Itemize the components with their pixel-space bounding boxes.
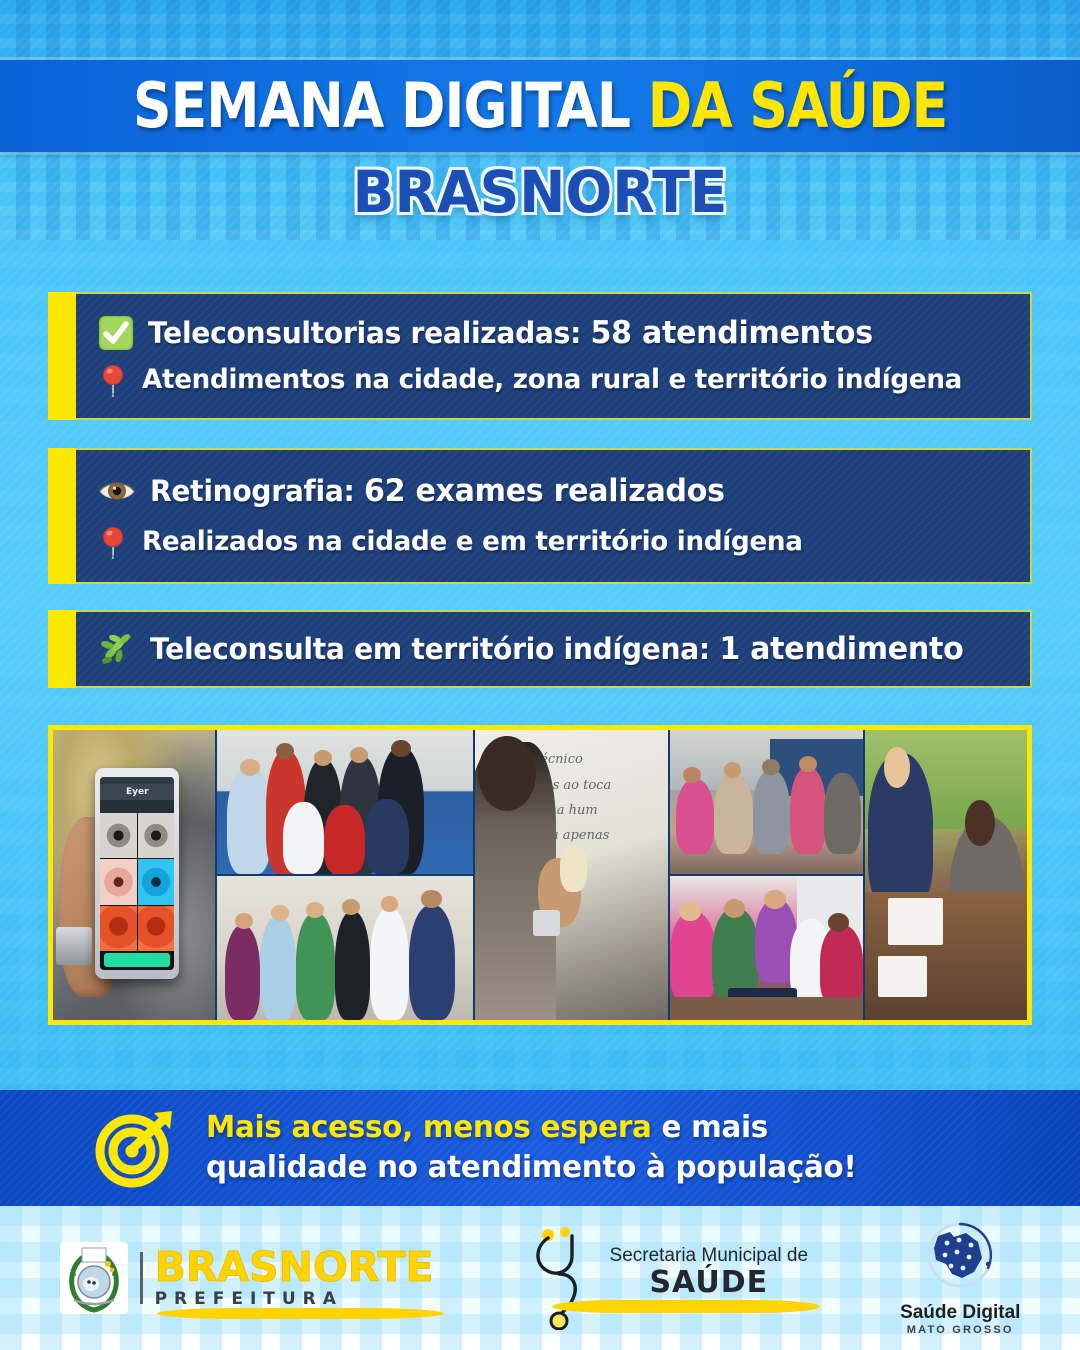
- card-body: Retinografia: 62 exames realizados Reali…: [76, 448, 1032, 584]
- card-main-row: Teleconsulta em território indígena: 1 a…: [98, 631, 1012, 667]
- round-pushpin-icon: [98, 523, 128, 559]
- card-accent-bar: [48, 292, 76, 420]
- brasnorte-coat-of-arms-icon: [60, 1242, 128, 1314]
- card-sub-row: Atendimentos na cidade, zona rural e ter…: [98, 361, 1012, 397]
- photo-collage: Eyer: [48, 725, 1032, 1025]
- target-dart-icon: [92, 1105, 178, 1191]
- saude-swoosh: [552, 1300, 821, 1313]
- title-band: SEMANA DIGITAL DA SAÚDE: [0, 60, 1080, 152]
- stethoscope-icon: [526, 1226, 602, 1330]
- secretaria-municipal-saude-logo[interactable]: Secretaria Municipal de SAÚDE: [526, 1226, 809, 1330]
- prefeitura-wordmark: PREFEITURA: [155, 1289, 434, 1309]
- card-main-text: Teleconsulta em território indígena: 1 a…: [150, 631, 963, 667]
- logo-divider: [140, 1252, 143, 1304]
- page-subtitle: BRASNORTE: [27, 158, 1053, 226]
- retinograph-device: Eyer: [95, 768, 179, 980]
- card-main-row: Teleconsultorias realizadas: 58 atendime…: [98, 315, 1012, 351]
- mato-grosso-wordmark: MATO GROSSO: [900, 1324, 1020, 1336]
- health-team-lab-coats-photo: [217, 876, 473, 1020]
- card-sub-text: Realizados na cidade e em território ind…: [142, 526, 803, 557]
- card-main-value: 1 atendimento: [719, 631, 963, 667]
- title-part-white: SEMANA DIGITAL: [133, 69, 648, 142]
- brasnorte-wordmark: BRASNORTE: [155, 1247, 434, 1287]
- saude-digital-mato-grosso-logo[interactable]: Saúde Digital MATO GROSSO: [900, 1220, 1020, 1336]
- herb-leaf-icon: [98, 631, 136, 667]
- card-accent-bar: [48, 448, 76, 584]
- waiting-room-photo: [670, 730, 863, 874]
- card-accent-bar: [48, 610, 76, 688]
- slogan-line-1: Mais acesso, menos espera e mais: [206, 1108, 857, 1149]
- retinography-phone-photo: Eyer: [53, 730, 215, 1020]
- slogan-text: Mais acesso, menos espera e mais qualida…: [206, 1108, 857, 1189]
- wall-quote-technician-photo: Técnico mas ao toca alma hum seja apenas: [475, 730, 668, 1020]
- card-sub-text: Atendimentos na cidade, zona rural e ter…: [142, 364, 962, 395]
- card-main-prefix: Teleconsulta em território indígena:: [150, 632, 719, 666]
- card-main-row: Retinografia: 62 exames realizados: [98, 473, 1012, 509]
- card-main-prefix: Teleconsultorias realizadas:: [148, 316, 591, 350]
- stat-card-retinografia: Retinografia: 62 exames realizados Reali…: [48, 448, 1032, 584]
- saude-wordmark: SAÚDE: [610, 1267, 809, 1299]
- wristwatch-shape: [56, 927, 92, 965]
- check-mark-button-icon: [98, 315, 134, 351]
- secretaria-top-text: Secretaria Municipal de: [610, 1245, 809, 1267]
- stat-card-teleconsultorias: Teleconsultorias realizadas: 58 atendime…: [48, 292, 1032, 420]
- page-title: SEMANA DIGITAL DA SAÚDE: [133, 75, 947, 137]
- slogan-line-2: qualidade no atendimento à população!: [206, 1148, 857, 1189]
- card-main-text: Retinografia: 62 exames realizados: [150, 473, 725, 509]
- saude-digital-wordmark: Saúde Digital: [900, 1302, 1020, 1324]
- slogan-rest: e mais: [652, 1110, 768, 1145]
- card-body: Teleconsultorias realizadas: 58 atendime…: [76, 292, 1032, 420]
- card-body: Teleconsulta em território indígena: 1 a…: [76, 610, 1032, 688]
- outdoor-consultation-photo: [865, 730, 1027, 1020]
- slogan-banner: Mais acesso, menos espera e mais qualida…: [0, 1090, 1080, 1206]
- slogan-highlight: Mais acesso, menos espera: [206, 1110, 652, 1145]
- brasnorte-prefeitura-logo[interactable]: BRASNORTE PREFEITURA: [60, 1242, 434, 1314]
- health-team-group-photo: [217, 730, 473, 874]
- title-part-yellow: DA SAÚDE: [648, 69, 948, 142]
- wall-quote-line: Técnico: [533, 747, 661, 772]
- card-main-text: Teleconsultorias realizadas: 58 atendime…: [148, 315, 873, 351]
- card-main-value: 62 exames realizados: [364, 473, 725, 509]
- brasnorte-swoosh: [157, 1308, 444, 1319]
- card-sub-row: Realizados na cidade e em território ind…: [98, 523, 1012, 559]
- card-main-value: 58 atendimentos: [591, 315, 873, 351]
- footer-logos: BRASNORTE PREFEITURA Secretaria Municipa…: [0, 1206, 1080, 1350]
- card-main-prefix: Retinografia:: [150, 474, 364, 508]
- eye-icon: [98, 476, 136, 506]
- poster-root: SEMANA DIGITAL DA SAÚDE BRASNORTE Teleco…: [0, 0, 1080, 1350]
- teleconsultation-laptop-photo: [670, 876, 863, 1020]
- mato-grosso-map-icon: [914, 1220, 1006, 1294]
- stat-card-teleconsulta-indigena: Teleconsulta em território indígena: 1 a…: [48, 610, 1032, 688]
- round-pushpin-icon: [98, 361, 128, 397]
